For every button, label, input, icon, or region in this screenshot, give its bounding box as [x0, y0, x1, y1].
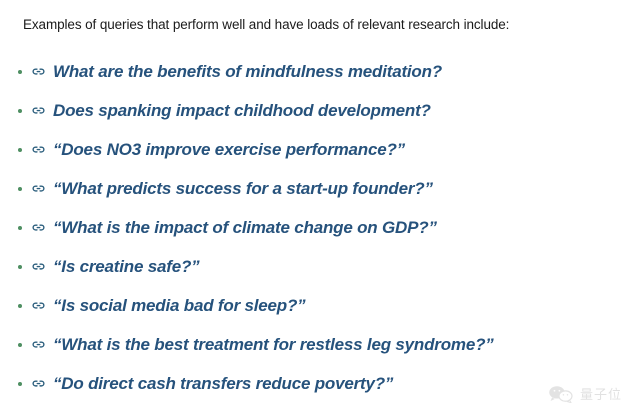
bullet-dot-icon	[18, 343, 22, 347]
query-text[interactable]: “What predicts success for a start-up fo…	[53, 179, 433, 199]
wechat-bubbles-icon	[548, 385, 574, 403]
list-item: “Do direct cash transfers reduce poverty…	[18, 364, 640, 403]
query-text[interactable]: “Does NO3 improve exercise performance?”	[53, 140, 405, 160]
list-item: “Is social media bad for sleep?”	[18, 286, 640, 325]
bullet-dot-icon	[18, 70, 22, 74]
list-item: “What is the impact of climate change on…	[18, 208, 640, 247]
list-item: “Is creatine safe?”	[18, 247, 640, 286]
list-item: “What is the best treatment for restless…	[18, 325, 640, 364]
link-icon	[31, 64, 46, 79]
query-text[interactable]: “Is creatine safe?”	[53, 257, 199, 277]
bullet-dot-icon	[18, 226, 22, 230]
query-text[interactable]: “What is the impact of climate change on…	[53, 218, 437, 238]
link-icon	[31, 259, 46, 274]
link-icon	[31, 298, 46, 313]
link-icon	[31, 103, 46, 118]
bullet-dot-icon	[18, 265, 22, 269]
link-icon	[31, 142, 46, 157]
bullet-dot-icon	[18, 148, 22, 152]
query-text[interactable]: “Do direct cash transfers reduce poverty…	[53, 374, 393, 394]
watermark-text: 量子位	[580, 384, 622, 403]
query-text[interactable]: “Is social media bad for sleep?”	[53, 296, 305, 316]
query-text[interactable]: “What is the best treatment for restless…	[53, 335, 494, 355]
list-item: “Does NO3 improve exercise performance?”	[18, 130, 640, 169]
query-text[interactable]: What are the benefits of mindfulness med…	[53, 62, 442, 82]
watermark: 量子位	[548, 384, 622, 403]
list-item: “What predicts success for a start-up fo…	[18, 169, 640, 208]
list-item: Does spanking impact childhood developme…	[18, 91, 640, 130]
list-item: What are the benefits of mindfulness med…	[18, 52, 640, 91]
link-icon	[31, 220, 46, 235]
bullet-dot-icon	[18, 109, 22, 113]
bullet-dot-icon	[18, 382, 22, 386]
document-page: Examples of queries that perform well an…	[0, 0, 640, 417]
query-list: What are the benefits of mindfulness med…	[18, 52, 640, 403]
link-icon	[31, 376, 46, 391]
bullet-dot-icon	[18, 187, 22, 191]
link-icon	[31, 337, 46, 352]
intro-paragraph: Examples of queries that perform well an…	[23, 16, 509, 34]
link-icon	[31, 181, 46, 196]
bullet-dot-icon	[18, 304, 22, 308]
query-text[interactable]: Does spanking impact childhood developme…	[53, 101, 431, 121]
